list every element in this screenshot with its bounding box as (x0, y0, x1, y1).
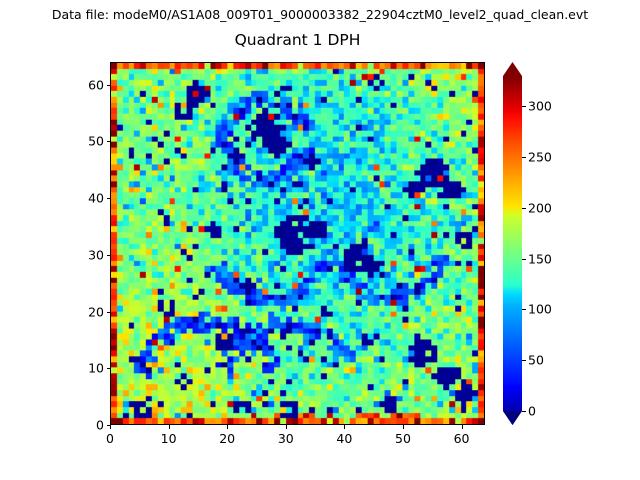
heatmap-axes (110, 62, 485, 425)
data-file-suptitle: Data file: modeM0/AS1A08_009T01_90000033… (0, 7, 640, 22)
y-tick-label: 40 (74, 191, 104, 206)
x-tick-label: 0 (106, 431, 114, 446)
colorbar-tick-label: 100 (528, 302, 552, 317)
colorbar-tick-label: 0 (528, 404, 536, 419)
x-tick-mark (110, 425, 111, 429)
colorbar-tick-mark (522, 309, 526, 310)
y-tick-label: 0 (74, 418, 104, 433)
x-tick-label: 20 (219, 431, 235, 446)
y-tick-mark (107, 85, 111, 86)
colorbar-tick-mark (522, 106, 526, 107)
y-tick-mark (107, 255, 111, 256)
y-tick-label: 10 (74, 361, 104, 376)
colorbar-tick-label: 50 (528, 353, 544, 368)
plot-title: Quadrant 1 DPH (110, 31, 485, 49)
x-tick-mark (169, 425, 170, 429)
colorbar-tick-mark (522, 360, 526, 361)
x-tick-mark (344, 425, 345, 429)
y-tick-label: 20 (74, 304, 104, 319)
y-tick-label: 60 (74, 77, 104, 92)
y-tick-mark (107, 312, 111, 313)
x-tick-mark (286, 425, 287, 429)
x-tick-label: 30 (278, 431, 294, 446)
colorbar (503, 62, 522, 425)
y-tick-mark (107, 198, 111, 199)
colorbar-tick-label: 300 (528, 99, 552, 114)
colorbar-tick-mark (522, 411, 526, 412)
colorbar-tick-mark (522, 208, 526, 209)
y-tick-mark (107, 425, 111, 426)
dph-heatmap-image (111, 63, 484, 424)
y-tick-mark (107, 368, 111, 369)
x-tick-label: 50 (395, 431, 411, 446)
colorbar-tick-label: 200 (528, 200, 552, 215)
x-tick-mark (462, 425, 463, 429)
x-tick-label: 10 (161, 431, 177, 446)
colorbar-tick-mark (522, 157, 526, 158)
colorbar-gradient (503, 62, 522, 425)
y-tick-mark (107, 141, 111, 142)
x-tick-label: 60 (454, 431, 470, 446)
colorbar-tick-label: 250 (528, 150, 552, 165)
figure-canvas: Data file: modeM0/AS1A08_009T01_90000033… (0, 0, 640, 480)
x-tick-label: 40 (336, 431, 352, 446)
x-tick-mark (227, 425, 228, 429)
y-tick-label: 50 (74, 134, 104, 149)
y-tick-label: 30 (74, 247, 104, 262)
colorbar-tick-mark (522, 259, 526, 260)
x-tick-mark (403, 425, 404, 429)
colorbar-tick-label: 150 (528, 251, 552, 266)
